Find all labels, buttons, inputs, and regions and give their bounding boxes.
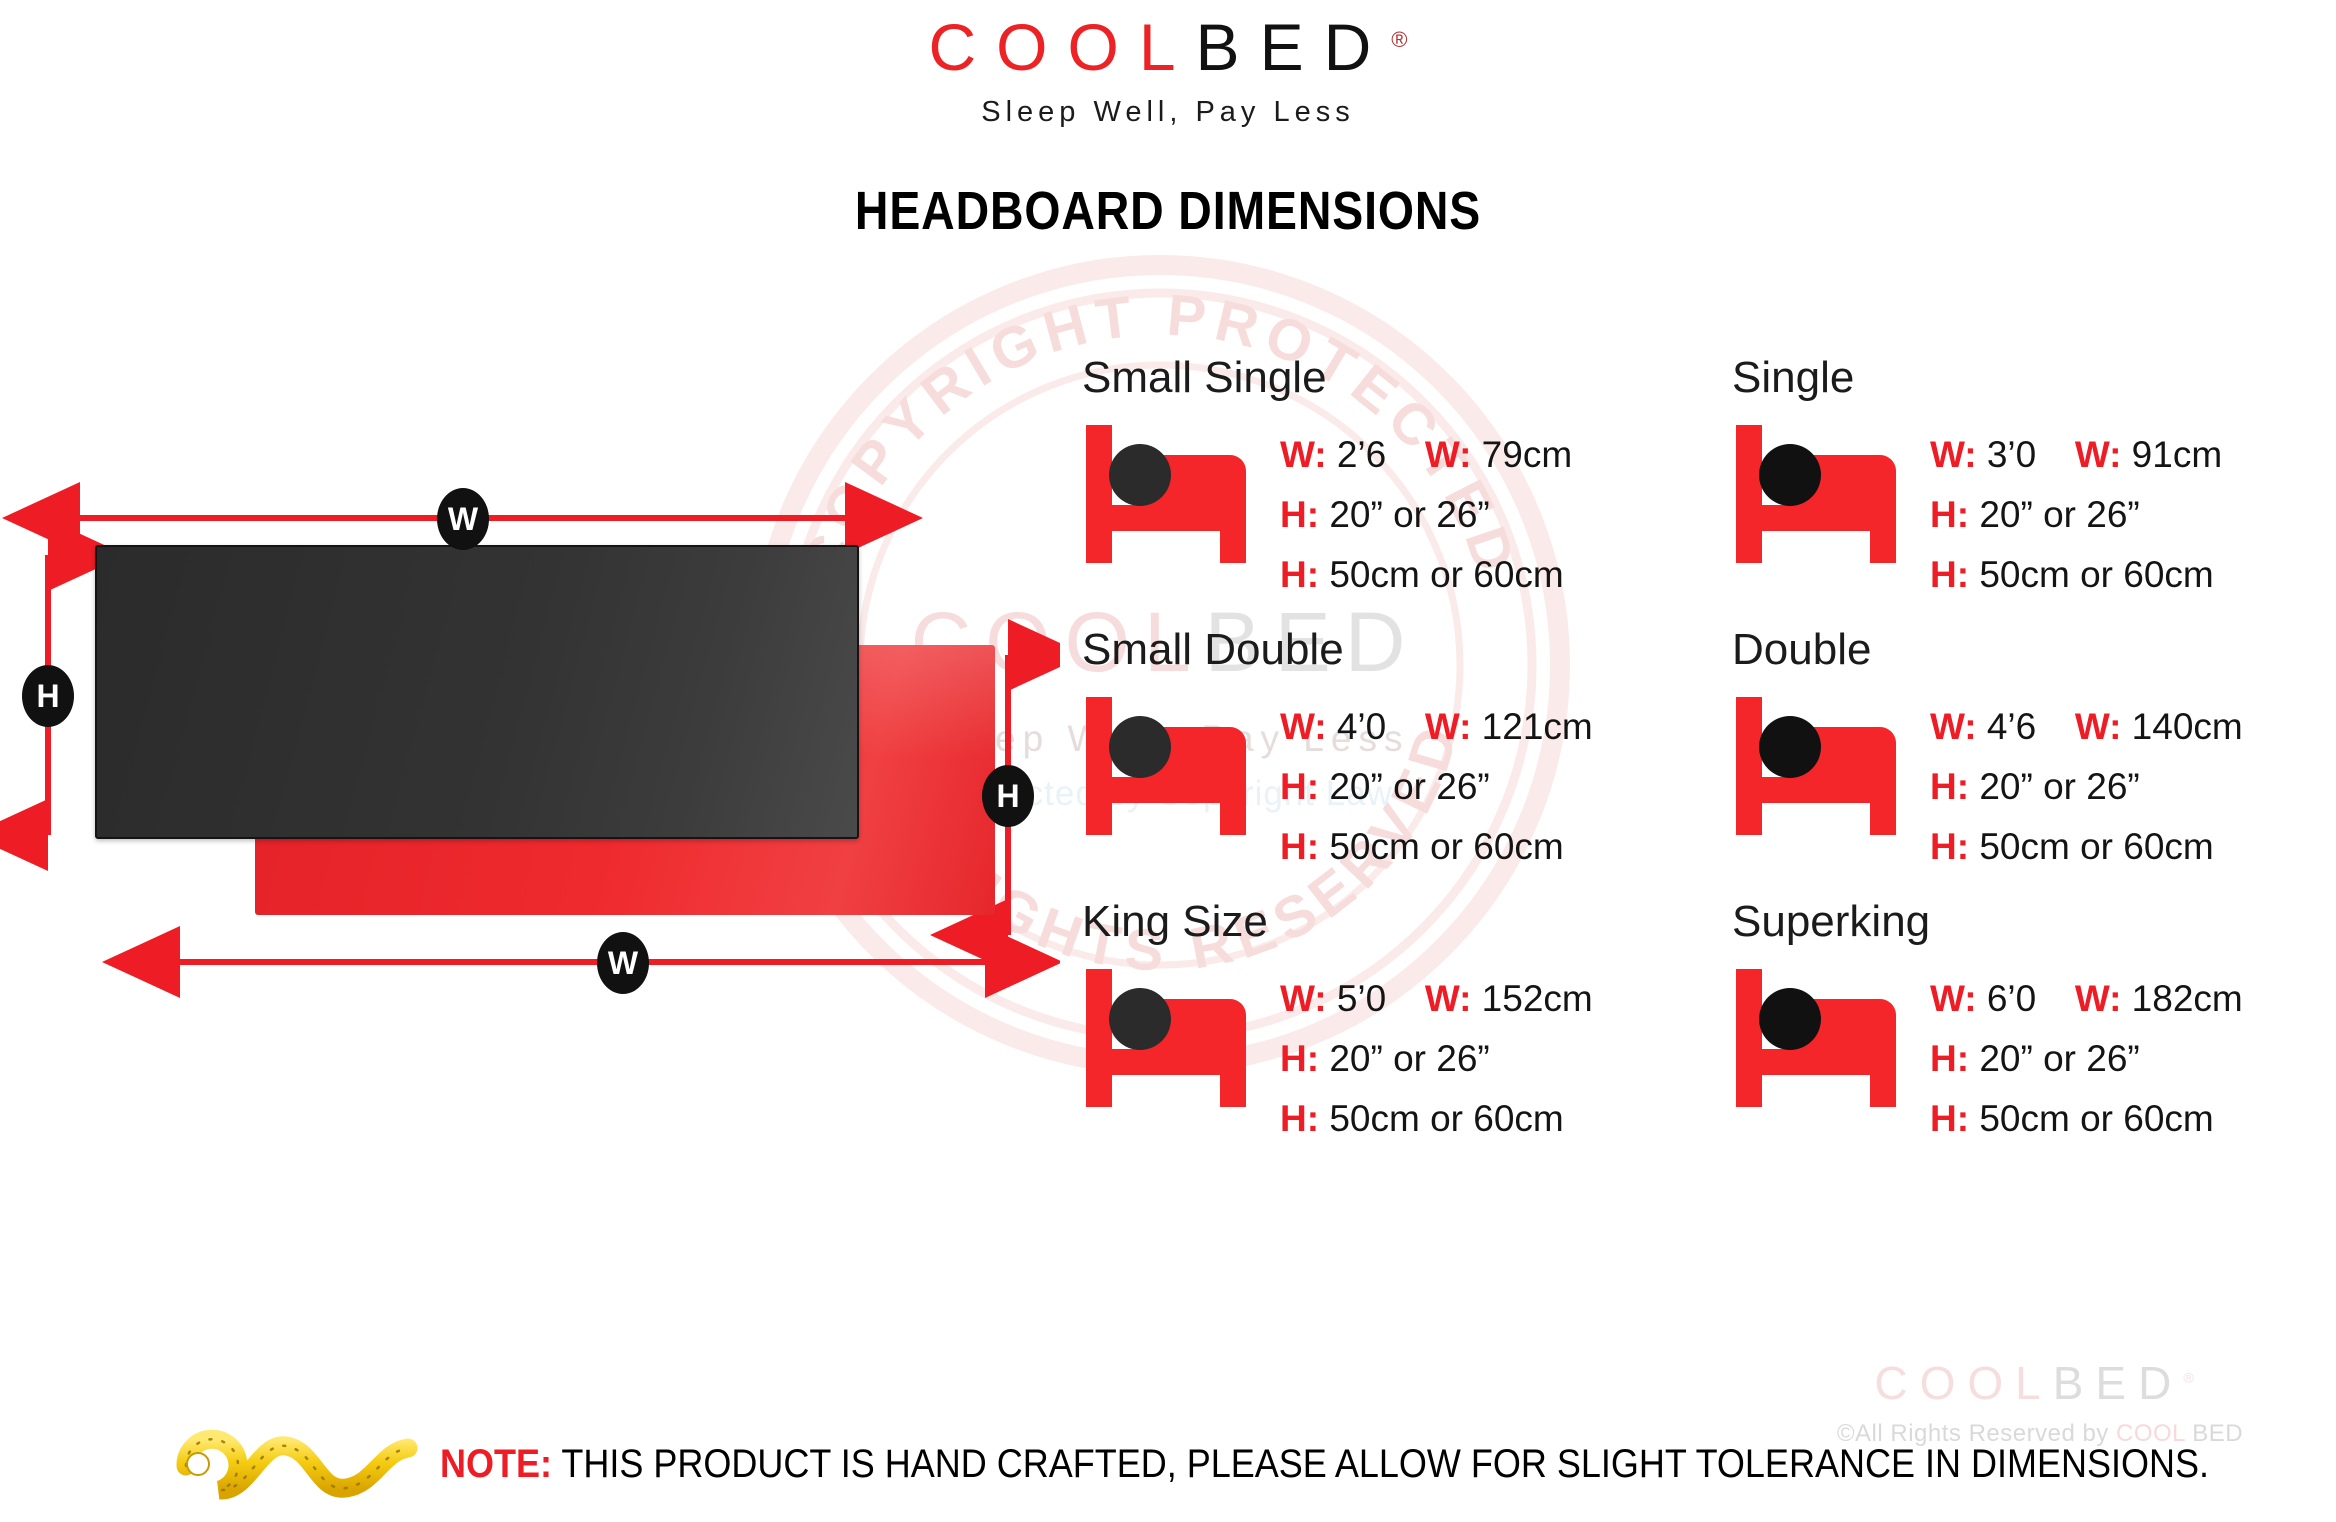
spec-height-imperial-value: 20” or 26”	[1329, 494, 1489, 535]
bed-size-column-right: Single W: 3’0	[1730, 355, 2336, 1171]
spec-height-metric-value: 50cm or 60cm	[1329, 554, 1563, 595]
spec-width-metric-value: 121cm	[1482, 706, 1593, 747]
footer-note-bar: NOTE: THIS PRODUCT IS HAND CRAFTED, PLEA…	[0, 1430, 2336, 1510]
brand-logo-bed: BED	[1196, 10, 1392, 84]
spec-height-imperial-key: H:	[1280, 766, 1319, 807]
spec-height-metric-key: H:	[1280, 1098, 1319, 1139]
spec-width-imperial-key: W:	[1930, 706, 1977, 747]
spec-width: W: 3’0 W: 91cm	[1930, 425, 2222, 485]
bed-size-specs: W: 6’0 W: 182cm H: 20” or 26” H: 50cm or…	[1930, 955, 2243, 1149]
bed-size-block: Double W: 4’6	[1730, 627, 2336, 877]
dimension-label-height-right: H	[982, 765, 1034, 827]
bed-size-specs: W: 4’0 W: 121cm H: 20” or 26” H: 50cm or…	[1280, 683, 1593, 877]
spec-width-imperial-value: 2’6	[1337, 434, 1386, 475]
spec-height-metric-value: 50cm or 60cm	[1979, 1098, 2213, 1139]
page-title: HEADBOARD DIMENSIONS	[164, 180, 2173, 242]
spec-width-metric-key: W:	[2075, 434, 2122, 475]
bed-size-block: Small Double W: 4’0	[1080, 627, 1700, 877]
footer-note-body: THIS PRODUCT IS HAND CRAFTED, PLEASE ALL…	[561, 1442, 2209, 1486]
spec-width: W: 4’0 W: 121cm	[1280, 697, 1593, 757]
brand-tagline: Sleep Well, Pay Less	[0, 96, 2336, 129]
spec-width-metric-value: 91cm	[2132, 434, 2222, 475]
spec-width-metric-value: 182cm	[2132, 978, 2243, 1019]
bed-size-name: Small Single	[1082, 355, 1700, 401]
bed-size-specs: W: 5’0 W: 152cm H: 20” or 26” H: 50cm or…	[1280, 955, 1593, 1149]
spec-width-metric-key: W:	[1425, 434, 1472, 475]
spec-height-metric-value: 50cm or 60cm	[1329, 826, 1563, 867]
spec-height-metric-value: 50cm or 60cm	[1979, 826, 2213, 867]
corner-watermark-logo: COOLBED®	[1800, 1360, 2280, 1406]
dimension-label-width-bottom: W	[597, 932, 649, 994]
bed-icon	[1730, 683, 1920, 839]
spec-width-metric-value: 140cm	[2132, 706, 2243, 747]
spec-height-metric-value: 50cm or 60cm	[1979, 554, 2213, 595]
spec-height-imperial: H: 20” or 26”	[1930, 757, 2243, 817]
brand-logo: COOLBED® Sleep Well, Pay Less	[0, 14, 2336, 129]
headboard-dimension-diagram: W H W H	[0, 460, 1060, 1020]
spec-height-imperial-key: H:	[1280, 1038, 1319, 1079]
spec-height-imperial: H: 20” or 26”	[1930, 485, 2222, 545]
spec-height-imperial: H: 20” or 26”	[1280, 1029, 1593, 1089]
corner-registered-icon: ®	[2183, 1370, 2205, 1386]
spec-height-metric: H: 50cm or 60cm	[1280, 1089, 1593, 1149]
spec-width-metric-key: W:	[2075, 978, 2122, 1019]
spec-height-imperial-key: H:	[1930, 494, 1969, 535]
bed-size-block: King Size W: 5’0	[1080, 899, 1700, 1149]
spec-width-imperial-key: W:	[1280, 706, 1327, 747]
corner-watermark-logo-bed: BED	[2053, 1357, 2184, 1409]
spec-width-imperial-key: W:	[1280, 434, 1327, 475]
spec-height-metric-key: H:	[1280, 826, 1319, 867]
bed-size-specs: W: 2’6 W: 79cm H: 20” or 26” H: 50cm or …	[1280, 411, 1572, 605]
spec-height-metric-key: H:	[1930, 826, 1969, 867]
spec-width-imperial-key: W:	[1930, 434, 1977, 475]
spec-width: W: 2’6 W: 79cm	[1280, 425, 1572, 485]
spec-width-imperial-key: W:	[1280, 978, 1327, 1019]
spec-width-imperial-value: 6’0	[1987, 978, 2036, 1019]
spec-width-metric-value: 152cm	[1482, 978, 1593, 1019]
spec-height-metric: H: 50cm or 60cm	[1930, 817, 2243, 877]
spec-height-metric-key: H:	[1280, 554, 1319, 595]
spec-height-imperial: H: 20” or 26”	[1280, 757, 1593, 817]
bed-size-name: Small Double	[1082, 627, 1700, 673]
spec-width-imperial-key: W:	[1930, 978, 1977, 1019]
bed-size-block: Single W: 3’0	[1730, 355, 2336, 605]
spec-height-imperial-value: 20” or 26”	[1979, 494, 2139, 535]
spec-height-imperial-key: H:	[1930, 1038, 1969, 1079]
brand-logo-wordmark: COOLBED®	[0, 14, 2336, 80]
bed-size-block: Small Single W: 2’6	[1080, 355, 1700, 605]
spec-width-imperial-value: 4’6	[1987, 706, 2036, 747]
bed-icon	[1730, 411, 1920, 567]
spec-height-imperial-value: 20” or 26”	[1329, 766, 1489, 807]
spec-height-metric: H: 50cm or 60cm	[1930, 545, 2222, 605]
spec-width-imperial-value: 5’0	[1337, 978, 1386, 1019]
corner-watermark-logo-cool: COOL	[1874, 1357, 2052, 1409]
spec-height-metric: H: 50cm or 60cm	[1930, 1089, 2243, 1149]
spec-height-imperial-value: 20” or 26”	[1979, 766, 2139, 807]
bed-icon	[1730, 955, 1920, 1111]
bed-size-name: King Size	[1082, 899, 1700, 945]
dimension-label-width-top: W	[437, 488, 489, 550]
spec-height-metric: H: 50cm or 60cm	[1280, 545, 1572, 605]
spec-height-imperial-key: H:	[1930, 766, 1969, 807]
bed-size-block: Superking W: 6’0	[1730, 899, 2336, 1149]
footer-note-key: NOTE:	[440, 1442, 552, 1486]
spec-height-imperial: H: 20” or 26”	[1280, 485, 1572, 545]
spec-width-imperial-value: 4’0	[1337, 706, 1386, 747]
footer-note-text: NOTE: THIS PRODUCT IS HAND CRAFTED, PLEA…	[440, 1442, 2209, 1487]
spec-width: W: 5’0 W: 152cm	[1280, 969, 1593, 1029]
bed-size-name: Single	[1732, 355, 2336, 401]
spec-height-metric-key: H:	[1930, 554, 1969, 595]
brand-logo-cool: COOL	[929, 10, 1196, 84]
dimension-label-height-left: H	[22, 665, 74, 727]
bed-icon	[1080, 955, 1270, 1111]
bed-size-name: Superking	[1732, 899, 2336, 945]
spec-height-metric-key: H:	[1930, 1098, 1969, 1139]
tape-measure-icon	[168, 1418, 418, 1514]
registered-trademark-icon: ®	[1391, 27, 1407, 52]
spec-width-metric-key: W:	[1425, 978, 1472, 1019]
spec-width: W: 6’0 W: 182cm	[1930, 969, 2243, 1029]
spec-width-imperial-value: 3’0	[1987, 434, 2036, 475]
bed-size-name: Double	[1732, 627, 2336, 673]
bed-icon	[1080, 411, 1270, 567]
spec-height-metric-value: 50cm or 60cm	[1329, 1098, 1563, 1139]
spec-height-imperial-key: H:	[1280, 494, 1319, 535]
bed-size-specs: W: 4’6 W: 140cm H: 20” or 26” H: 50cm or…	[1930, 683, 2243, 877]
spec-width: W: 4’6 W: 140cm	[1930, 697, 2243, 757]
spec-height-metric: H: 50cm or 60cm	[1280, 817, 1593, 877]
spec-width-metric-key: W:	[1425, 706, 1472, 747]
spec-height-imperial-value: 20” or 26”	[1329, 1038, 1489, 1079]
bed-size-column-left: Small Single W: 2’6	[1080, 355, 1700, 1171]
headboard-panel-black	[95, 545, 859, 839]
spec-width-metric-key: W:	[2075, 706, 2122, 747]
bed-icon	[1080, 683, 1270, 839]
bed-size-specs: W: 3’0 W: 91cm H: 20” or 26” H: 50cm or …	[1930, 411, 2222, 605]
spec-width-metric-value: 79cm	[1482, 434, 1572, 475]
spec-height-imperial-value: 20” or 26”	[1979, 1038, 2139, 1079]
spec-height-imperial: H: 20” or 26”	[1930, 1029, 2243, 1089]
